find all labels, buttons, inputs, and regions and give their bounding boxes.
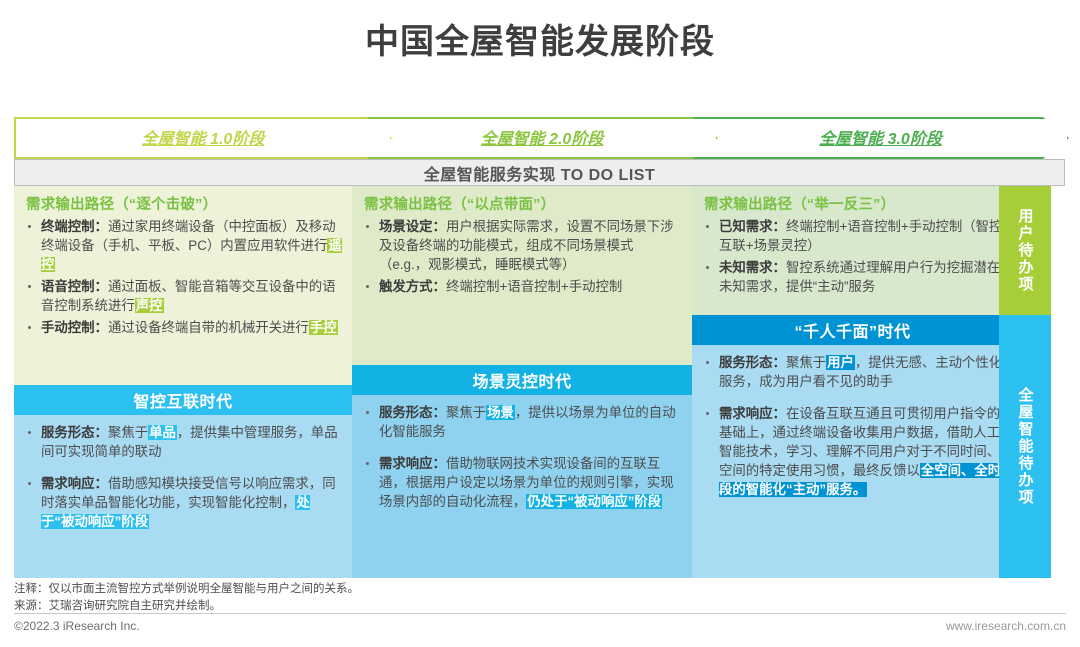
list-item-term: 需求响应： [379, 456, 446, 471]
stage-3-era-list: 服务形态：聚焦于用户，提供无感、主动个性化服务，成为用户看不见的助手 需求响应：… [702, 353, 1003, 499]
list-item: 触发方式：终端控制+语音控制+手动控制 [362, 277, 682, 296]
stage-column-2: 需求输出路径（“以点带面”） 场景设定：用户根据实际需求，设置不同场景下涉及设备… [352, 186, 692, 578]
stage-3-path-heading: 需求输出路径（“举一反三”） [704, 193, 1003, 214]
list-item: 需求响应：借助感知模块接受信号以响应需求，同时落实单品智能化功能，实现智能化控制… [24, 474, 342, 531]
stage-2-path-heading: 需求输出路径（“以点带面”） [364, 193, 682, 214]
vertical-tabs: 用户待办项 全屋智能待办项 [999, 186, 1051, 578]
stage-1-path-heading: 需求输出路径（“逐个击破”） [26, 193, 342, 214]
footer-divider [14, 613, 1066, 614]
list-item-term: 服务形态： [379, 405, 446, 420]
stages-board: 需求输出路径（“逐个击破”） 终端控制：通过家用终端设备（中控面板）及移动终端设… [14, 186, 1065, 578]
stage-3-era-heading: “千人千面”时代 [692, 315, 1013, 345]
list-item: 需求响应：借助物联网技术实现设备间的互联互通，根据用户设定以场景为单位的规则引擎… [362, 454, 682, 511]
list-item-highlight: 用户 [826, 355, 855, 370]
notes-block: 注释：仅以市面主流智控方式举例说明全屋智能与用户之间的关系。 来源：艾瑞咨询研究… [14, 581, 1065, 614]
list-item-term: 手动控制： [41, 320, 108, 335]
stage-chevron-3-label: 全屋智能 3.0阶段 [819, 125, 942, 149]
list-item-highlight: 场景 [486, 405, 515, 420]
list-item-term: 需求响应： [41, 476, 108, 491]
list-item-highlight: 手控 [309, 320, 338, 335]
stage-chevron-2[interactable]: 全屋智能 2.0阶段 [366, 117, 718, 159]
list-item-highlight: 单品 [148, 425, 177, 440]
list-item: 服务形态：聚焦于场景，提供以场景为单位的自动化智能服务 [362, 403, 682, 441]
stage-chevron-1-label: 全屋智能 1.0阶段 [142, 125, 265, 149]
stage-chevron-2-label: 全屋智能 2.0阶段 [481, 125, 604, 149]
list-item-text: 聚焦于 [446, 405, 486, 420]
list-item-term: 语音控制： [41, 279, 108, 294]
list-item-term: 服务形态： [41, 425, 108, 440]
page-title: 中国全屋智能发展阶段 [0, 14, 1080, 63]
stage-chevron-1[interactable]: 全屋智能 1.0阶段 [14, 117, 392, 159]
list-item-highlight: 声控 [135, 298, 164, 313]
list-item-text: 聚焦于 [108, 425, 148, 440]
stage-1-era-list: 服务形态：聚焦于单品，提供集中管理服务，单品间可实现简单的联动 需求响应：借助感… [24, 423, 342, 531]
stage-1-home-section: 智控互联时代 服务形态：聚焦于单品，提供集中管理服务，单品间可实现简单的联动 需… [14, 385, 352, 578]
stage-chevron-3[interactable]: 全屋智能 3.0阶段 [692, 117, 1069, 159]
stage-column-1: 需求输出路径（“逐个击破”） 终端控制：通过家用终端设备（中控面板）及移动终端设… [14, 186, 352, 578]
slide-page: 中国全屋智能发展阶段 全屋智能 1.0阶段 全屋智能 2.0阶段 全屋智能 3.… [0, 0, 1080, 647]
list-item: 未知需求：智控系统通过理解用户行为挖掘潜在未知需求，提供“主动”服务 [702, 258, 1003, 296]
stage-2-era-heading: 场景灵控时代 [352, 365, 692, 395]
stage-2-path-list: 场景设定：用户根据实际需求，设置不同场景下涉及设备终端的功能模式，组成不同场景模… [362, 217, 682, 296]
vertical-tab-home-todo: 全屋智能待办项 [999, 315, 1051, 578]
list-item-text: 聚焦于 [786, 355, 826, 370]
todo-list-bar: 全屋智能服务实现 TO DO LIST [14, 159, 1065, 186]
stage-3-era-body: 服务形态：聚焦于用户，提供无感、主动个性化服务，成为用户看不见的助手 需求响应：… [692, 345, 1013, 499]
stage-1-era-body: 服务形态：聚焦于单品，提供集中管理服务，单品间可实现简单的联动 需求响应：借助感… [14, 415, 352, 531]
copyright-text: ©2022.3 iResearch Inc. [14, 619, 140, 633]
list-item-term: 服务形态： [719, 355, 786, 370]
list-item-term: 需求响应： [719, 406, 786, 421]
stage-chevron-band: 全屋智能 1.0阶段 全屋智能 2.0阶段 全屋智能 3.0阶段 [14, 117, 1069, 159]
list-item-term: 终端控制： [41, 219, 108, 234]
list-item-term: 触发方式： [379, 279, 446, 294]
stage-3-path-list: 已知需求：终端控制+语音控制+手动控制（智控互联+场景灵控） 未知需求：智控系统… [702, 217, 1003, 296]
stage-2-era-list: 服务形态：聚焦于场景，提供以场景为单位的自动化智能服务 需求响应：借助物联网技术… [362, 403, 682, 511]
stage-1-user-section: 需求输出路径（“逐个击破”） 终端控制：通过家用终端设备（中控面板）及移动终端设… [14, 186, 352, 385]
list-item-term: 已知需求： [719, 219, 786, 234]
stage-2-era-body: 服务形态：聚焦于场景，提供以场景为单位的自动化智能服务 需求响应：借助物联网技术… [352, 395, 692, 511]
note-line: 注释：仅以市面主流智控方式举例说明全屋智能与用户之间的关系。 [14, 581, 1065, 598]
stage-3-user-section: 需求输出路径（“举一反三”） 已知需求：终端控制+语音控制+手动控制（智控互联+… [692, 186, 1013, 315]
list-item: 需求响应：在设备互联互通且可贯彻用户指令的基础上，通过终端设备收集用户数据，借助… [702, 404, 1003, 499]
list-item: 语音控制：通过面板、智能音箱等交互设备中的语音控制系统进行声控 [24, 277, 342, 315]
website-link[interactable]: www.iresearch.com.cn [946, 619, 1066, 633]
list-item-highlight: 仍处于“被动响应”阶段 [526, 494, 662, 509]
list-item: 手动控制：通过设备终端自带的机械开关进行手控 [24, 318, 342, 337]
stage-2-home-section: 场景灵控时代 服务形态：聚焦于场景，提供以场景为单位的自动化智能服务 需求响应：… [352, 365, 692, 578]
stage-2-user-section: 需求输出路径（“以点带面”） 场景设定：用户根据实际需求，设置不同场景下涉及设备… [352, 186, 692, 365]
list-item-text: 通过设备终端自带的机械开关进行 [108, 320, 309, 335]
vertical-tab-user-todo: 用户待办项 [999, 186, 1051, 315]
stage-3-home-section: “千人千面”时代 服务形态：聚焦于用户，提供无感、主动个性化服务，成为用户看不见… [692, 315, 1013, 578]
list-item: 服务形态：聚焦于单品，提供集中管理服务，单品间可实现简单的联动 [24, 423, 342, 461]
stage-1-path-list: 终端控制：通过家用终端设备（中控面板）及移动终端设备（手机、平板、PC）内置应用… [24, 217, 342, 337]
source-line: 来源：艾瑞咨询研究院自主研究并绘制。 [14, 598, 1065, 615]
list-item-term: 未知需求： [719, 260, 786, 275]
stage-1-era-heading: 智控互联时代 [14, 385, 352, 415]
list-item: 终端控制：通过家用终端设备（中控面板）及移动终端设备（手机、平板、PC）内置应用… [24, 217, 342, 274]
list-item: 服务形态：聚焦于用户，提供无感、主动个性化服务，成为用户看不见的助手 [702, 353, 1003, 391]
list-item-term: 场景设定： [379, 219, 446, 234]
stage-column-3: 需求输出路径（“举一反三”） 已知需求：终端控制+语音控制+手动控制（智控互联+… [692, 186, 1013, 578]
list-item-text: 终端控制+语音控制+手动控制 [446, 279, 622, 294]
list-item: 已知需求：终端控制+语音控制+手动控制（智控互联+场景灵控） [702, 217, 1003, 255]
list-item: 场景设定：用户根据实际需求，设置不同场景下涉及设备终端的功能模式，组成不同场景模… [362, 217, 682, 274]
